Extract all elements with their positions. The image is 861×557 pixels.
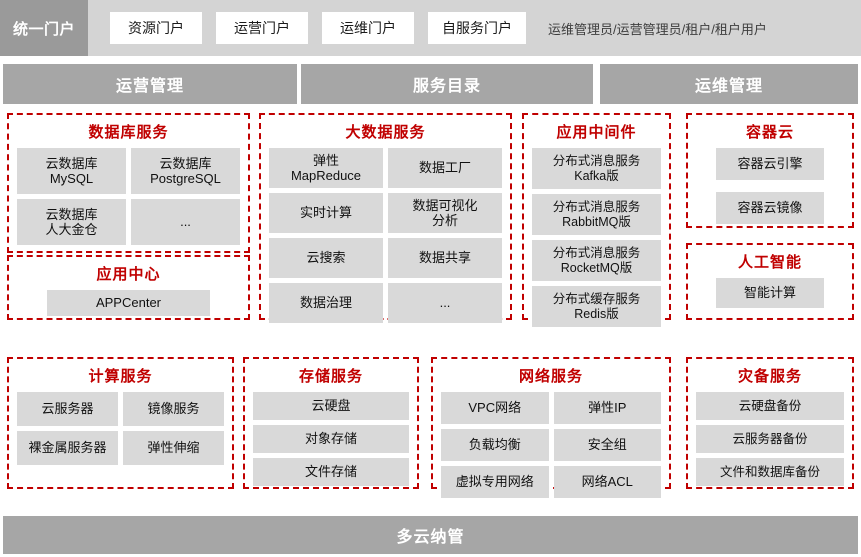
service-tile[interactable]: 负载均衡 <box>441 429 549 461</box>
group-title-database-service: 数据库服务 <box>9 121 248 142</box>
tile-list-compute-service: 云服务器镜像服务裸金属服务器弹性伸缩 <box>9 392 232 472</box>
group-storage-service: 存储服务 云硬盘对象存储文件存储 <box>243 357 419 489</box>
group-disaster-recovery-service: 灾备服务 云硬盘备份云服务器备份文件和数据库备份 <box>686 357 854 489</box>
portal-roles-label: 运维管理员/运营管理员/租户/租户用户 <box>548 19 767 38</box>
service-tile[interactable]: 云硬盘 <box>253 392 409 420</box>
service-tile[interactable]: 安全组 <box>554 429 662 461</box>
group-title-compute-service: 计算服务 <box>9 365 232 386</box>
service-tile[interactable]: 容器云镜像 <box>716 192 824 224</box>
service-tile[interactable]: 弹性IP <box>554 392 662 424</box>
service-tile[interactable]: 虚拟专用网络 <box>441 466 549 498</box>
group-title-storage-service: 存储服务 <box>245 365 417 386</box>
service-tile[interactable]: 弹性伸缩 <box>123 431 224 465</box>
service-tile[interactable]: 云数据库PostgreSQL <box>131 148 240 194</box>
service-tile[interactable]: 云服务器 <box>17 392 118 426</box>
tile-list-disaster-recovery-service: 云硬盘备份云服务器备份文件和数据库备份 <box>688 392 852 493</box>
service-tile[interactable]: 对象存储 <box>253 425 409 453</box>
group-title-artificial-intelligence: 人工智能 <box>688 251 852 272</box>
service-tile[interactable]: 文件和数据库备份 <box>696 458 844 486</box>
tile-list-storage-service: 云硬盘对象存储文件存储 <box>245 392 417 493</box>
service-tile[interactable]: 镜像服务 <box>123 392 224 426</box>
section-bar-operations[interactable]: 运营管理 <box>3 64 297 104</box>
service-tile[interactable]: 云硬盘备份 <box>696 392 844 420</box>
tile-list-artificial-intelligence: 智能计算 <box>688 278 852 315</box>
group-bigdata-service: 大数据服务 弹性MapReduce数据工厂实时计算数据可视化分析云搜索数据共享数… <box>259 113 512 320</box>
service-tile[interactable]: 数据治理 <box>269 283 383 323</box>
service-tile[interactable]: 云搜索 <box>269 238 383 278</box>
service-tile[interactable]: 云数据库人大金仓 <box>17 199 126 245</box>
service-tile[interactable]: ... <box>388 283 502 323</box>
group-app-center: 应用中心 APPCenter <box>7 255 250 320</box>
group-title-bigdata-service: 大数据服务 <box>261 121 510 142</box>
service-tile[interactable]: 弹性MapReduce <box>269 148 383 188</box>
portal-tab-resource[interactable]: 资源门户 <box>110 12 202 44</box>
group-title-app-center: 应用中心 <box>9 263 248 284</box>
group-network-service: 网络服务 VPC网络弹性IP负载均衡安全组虚拟专用网络网络ACL <box>431 357 671 489</box>
portal-tabs: 资源门户 运营门户 运维门户 自服务门户 运维管理员/运营管理员/租户/租户用户 <box>88 0 767 56</box>
tile-list-container-cloud: 容器云引擎容器云镜像 <box>688 148 852 231</box>
service-tile[interactable]: VPC网络 <box>441 392 549 424</box>
service-tile[interactable]: 分布式消息服务RabbitMQ版 <box>532 194 661 235</box>
service-tile[interactable]: 数据共享 <box>388 238 502 278</box>
tile-list-network-service: VPC网络弹性IP负载均衡安全组虚拟专用网络网络ACL <box>433 392 669 505</box>
service-tile[interactable]: 数据工厂 <box>388 148 502 188</box>
group-application-middleware: 应用中间件 分布式消息服务Kafka版分布式消息服务RabbitMQ版分布式消息… <box>522 113 671 320</box>
service-tile[interactable]: 数据可视化分析 <box>388 193 502 233</box>
portal-tab-operation[interactable]: 运营门户 <box>216 12 308 44</box>
tile-list-app-center: APPCenter <box>9 290 248 323</box>
tile-list-database-service: 云数据库MySQL云数据库PostgreSQL云数据库人大金仓... <box>9 148 248 252</box>
service-tile[interactable]: 实时计算 <box>269 193 383 233</box>
tile-list-application-middleware: 分布式消息服务Kafka版分布式消息服务RabbitMQ版分布式消息服务Rock… <box>524 148 669 334</box>
group-compute-service: 计算服务 云服务器镜像服务裸金属服务器弹性伸缩 <box>7 357 234 489</box>
portal-tab-selfservice[interactable]: 自服务门户 <box>428 12 526 44</box>
group-artificial-intelligence: 人工智能 智能计算 <box>686 243 854 320</box>
portal-tab-maintenance[interactable]: 运维门户 <box>322 12 414 44</box>
service-tile[interactable]: 网络ACL <box>554 466 662 498</box>
section-bar-catalog[interactable]: 服务目录 <box>301 64 593 104</box>
group-title-disaster-recovery-service: 灾备服务 <box>688 365 852 386</box>
group-database-service: 数据库服务 云数据库MySQL云数据库PostgreSQL云数据库人大金仓... <box>7 113 250 253</box>
service-tile[interactable]: 裸金属服务器 <box>17 431 118 465</box>
bottom-bar-multicloud[interactable]: 多云纳管 <box>3 516 858 554</box>
group-title-application-middleware: 应用中间件 <box>524 121 669 142</box>
service-tile[interactable]: 容器云引擎 <box>716 148 824 180</box>
portal-bar: 统一门户 资源门户 运营门户 运维门户 自服务门户 运维管理员/运营管理员/租户… <box>0 0 861 56</box>
service-tile[interactable]: 文件存储 <box>253 458 409 486</box>
portal-brand: 统一门户 <box>0 0 88 56</box>
service-tile[interactable]: 分布式消息服务RocketMQ版 <box>532 240 661 281</box>
group-container-cloud: 容器云 容器云引擎容器云镜像 <box>686 113 854 228</box>
group-title-container-cloud: 容器云 <box>688 121 852 142</box>
service-tile[interactable]: APPCenter <box>47 290 210 316</box>
service-tile[interactable]: 云数据库MySQL <box>17 148 126 194</box>
service-tile[interactable]: 分布式消息服务Kafka版 <box>532 148 661 189</box>
service-tile[interactable]: 分布式缓存服务Redis版 <box>532 286 661 327</box>
group-title-network-service: 网络服务 <box>433 365 669 386</box>
tile-list-bigdata-service: 弹性MapReduce数据工厂实时计算数据可视化分析云搜索数据共享数据治理... <box>261 148 510 330</box>
service-tile[interactable]: 云服务器备份 <box>696 425 844 453</box>
service-tile[interactable]: 智能计算 <box>716 278 824 308</box>
section-bar-maintenance[interactable]: 运维管理 <box>600 64 858 104</box>
service-tile[interactable]: ... <box>131 199 240 245</box>
